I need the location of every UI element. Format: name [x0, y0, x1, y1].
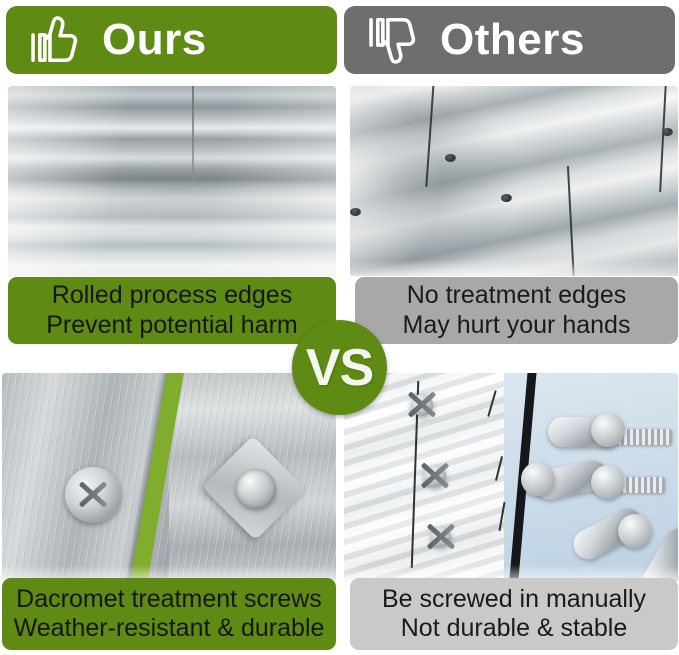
- photo-raw-edge-others: [350, 86, 678, 276]
- wing-screw-cap: [591, 465, 625, 499]
- phillips-screw: [65, 467, 121, 523]
- photo-fill: [350, 86, 678, 276]
- caption-line-1: No treatment edges: [407, 281, 627, 311]
- caption-bottom-right: Be screwed in manually Not durable & sta…: [350, 578, 678, 650]
- vs-badge: VS: [292, 320, 387, 415]
- comparison-infographic: Ours Others: [0, 0, 679, 655]
- photo-hole: [350, 208, 361, 216]
- photo-hole: [662, 128, 673, 136]
- caption-line-1: Dacromet treatment screws: [16, 585, 322, 615]
- caption-line-1: Rolled process edges: [52, 281, 292, 311]
- header-others: Others: [344, 6, 675, 74]
- wing-screw-shaft: [618, 429, 672, 445]
- header-ours-label: Ours: [102, 18, 207, 62]
- caption-bottom-left: Dacromet treatment screws Weather-resist…: [2, 578, 336, 650]
- screw-head: [411, 394, 433, 416]
- photo-fill: [8, 86, 336, 276]
- caption-top-left: Rolled process edges Prevent potential h…: [8, 277, 336, 344]
- header-ours: Ours: [6, 6, 337, 74]
- hex-bolt: [236, 469, 276, 509]
- photo-dacromet-screws-ours: [2, 373, 336, 581]
- wing-screw-cap: [591, 413, 625, 447]
- caption-top-right: No treatment edges May hurt your hands: [355, 277, 678, 344]
- thumbs-up-icon: [28, 13, 82, 67]
- caption-line-2: Prevent potential harm: [46, 311, 298, 341]
- photo-rolled-edge-ours: [8, 86, 336, 276]
- screw-head: [431, 527, 451, 547]
- photo-manual-screws-others: [344, 373, 678, 581]
- caption-line-2: Weather-resistant & durable: [14, 614, 325, 644]
- vs-badge-label: VS: [306, 342, 373, 394]
- caption-line-2: Not durable & stable: [401, 614, 628, 644]
- photo-gloss: [8, 260, 336, 276]
- photo-gloss: [350, 260, 678, 276]
- thumbs-down-icon: [366, 13, 420, 67]
- header-others-label: Others: [440, 18, 585, 62]
- photo-seam: [192, 86, 194, 185]
- screw-head: [424, 465, 446, 487]
- caption-line-2: May hurt your hands: [403, 311, 631, 341]
- caption-line-1: Be screwed in manually: [382, 585, 646, 615]
